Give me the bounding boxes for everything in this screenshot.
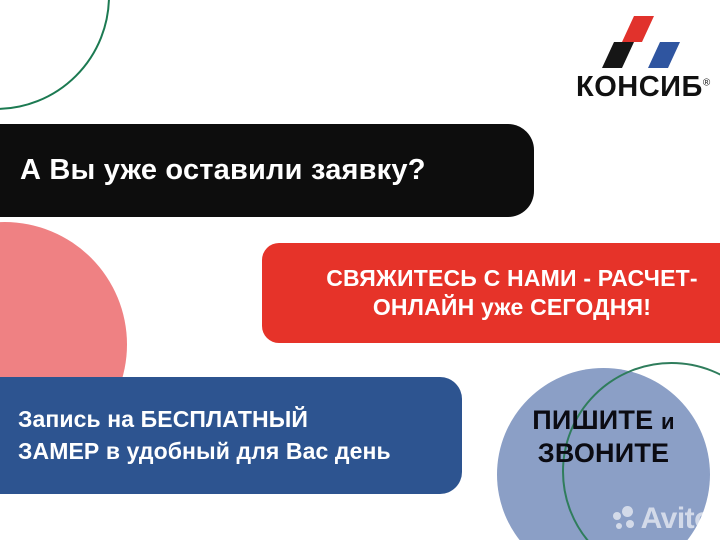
konsib-logo-mark-icon [602,16,680,68]
contact-banner: СВЯЖИТЕСЬ С НАМИ - РАСЧЕТ- ОНЛАЙН уже СЕ… [262,243,720,343]
promo-banner-canvas: КОНСИБ® А Вы уже оставили заявку? СВЯЖИТ… [0,0,720,540]
question-banner-text: А Вы уже оставили заявку? [20,155,426,187]
callout-line-2: ЗВОНИТЕ [538,438,670,468]
free-measurement-banner-text: Запись на БЕСПЛАТНЫЙ ЗАМЕР в удобный для… [18,404,391,466]
green-ring-decoration-top-left [0,0,110,110]
registered-trademark-icon: ® [703,77,711,88]
callout-line-1-conjunction: и [661,409,675,434]
brand-wordmark: КОНСИБ® [576,73,706,102]
callout-line-1-prefix: ПИШИТЕ [532,405,661,435]
free-measurement-line-2: ЗАМЕР в удобный для Вас день [18,438,391,464]
contact-banner-line-2-emphasis: уже [481,294,523,320]
brand-name: КОНСИБ [576,71,703,103]
contact-banner-line-1: СВЯЖИТЕСЬ С НАМИ - РАСЧЕТ- [326,265,698,291]
free-measurement-line-1: Запись на БЕСПЛАТНЫЙ [18,406,308,432]
write-and-call-callout: ПИШИТЕ и ЗВОНИТЕ [497,404,710,470]
avito-watermark-text: Avito [641,504,712,534]
contact-banner-line-2-suffix: СЕГОДНЯ! [523,294,651,320]
contact-banner-text: СВЯЖИТЕСЬ С НАМИ - РАСЧЕТ- ОНЛАЙН уже СЕ… [326,264,698,322]
free-measurement-banner: Запись на БЕСПЛАТНЫЙ ЗАМЕР в удобный для… [0,377,462,494]
question-banner: А Вы уже оставили заявку? [0,124,534,217]
avito-watermark: Avito [613,504,712,534]
contact-banner-line-2-prefix: ОНЛАЙН [373,294,481,320]
avito-dots-icon [613,506,639,532]
brand-logo: КОНСИБ® [576,16,706,104]
